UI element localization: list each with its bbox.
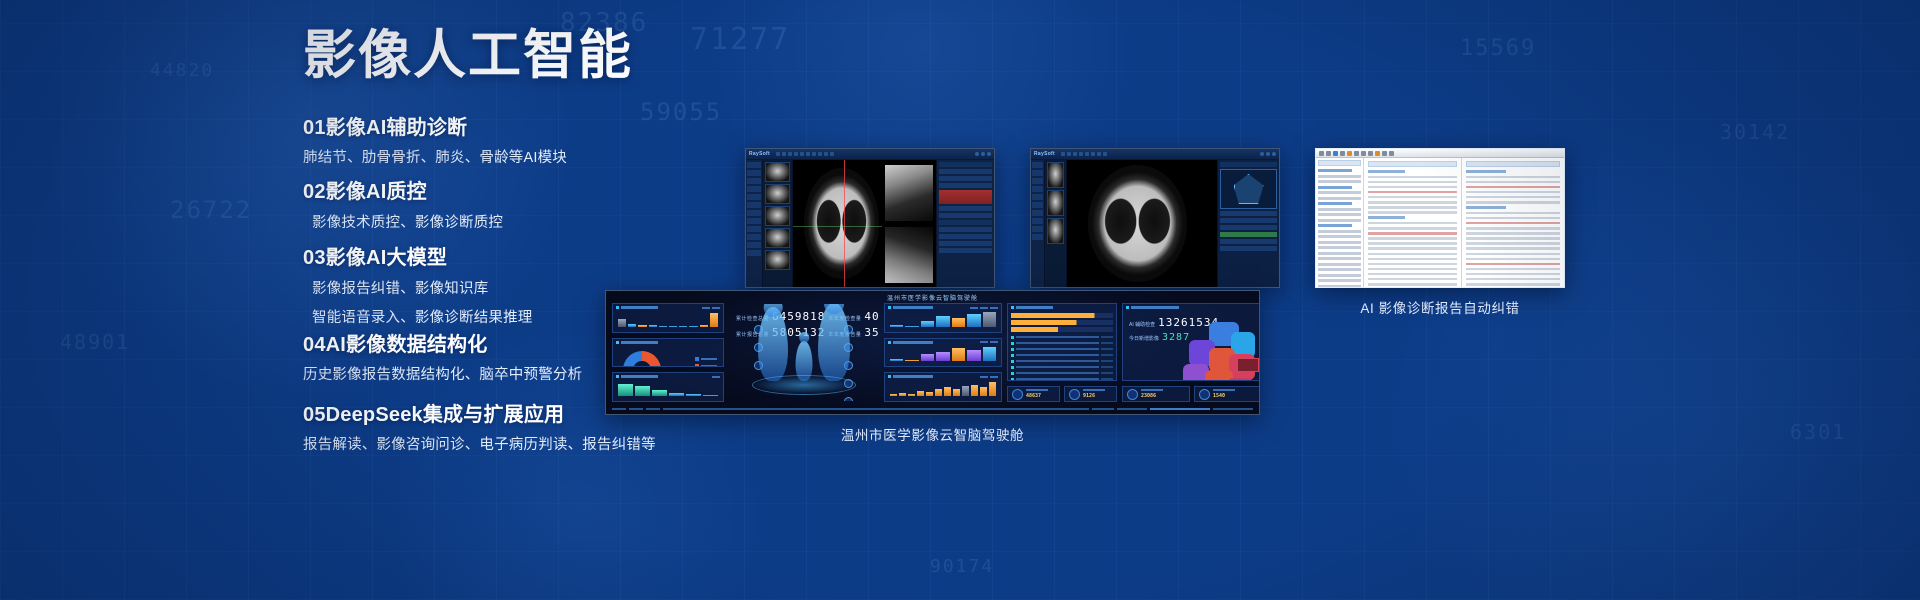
user-icon — [1199, 389, 1210, 400]
kpi-value: 358447 — [864, 326, 879, 339]
screenshot-caption-dashboard: 温州市医学影像云智脑驾驶舱 — [605, 424, 1260, 444]
qc-metric-row — [1220, 218, 1277, 223]
screenshot-dashboard[interactable]: 温州市医学影像云智脑驾驶舱 — [605, 290, 1260, 415]
banner-root: 82386 71277 59055 26722 15569 30142 4890… — [0, 0, 1920, 600]
ranking-list-card[interactable] — [1007, 303, 1117, 381]
series-thumbnail[interactable] — [765, 162, 790, 182]
feature-title: 05DeepSeek集成与扩展应用 — [303, 403, 656, 428]
doc-toolbar[interactable] — [1316, 149, 1564, 158]
panel-tab[interactable] — [939, 162, 992, 167]
screenshot-report-correction[interactable] — [1315, 148, 1565, 288]
page-title: 影像人工智能 — [303, 28, 683, 84]
feature-item-01: 01影像AI辅助诊断 肺结节、肋骨骨折、肺炎、骨龄等AI模块 — [303, 116, 567, 169]
figure-adult-left — [758, 307, 788, 381]
map-kpi-label: 今日新增影像 — [1129, 335, 1159, 342]
chart-card-bar-3[interactable] — [884, 303, 1002, 333]
ct-axial-image — [804, 168, 878, 280]
holo-base-ring — [752, 375, 856, 395]
finding-row[interactable] — [939, 176, 992, 181]
feature-subtitle: 历史影像报告数据结构化、脑卒中预警分析 — [303, 365, 582, 386]
bg-number: 90174 — [930, 556, 994, 577]
map-tooltip — [1237, 358, 1259, 372]
stat-tile[interactable]: 1540 — [1194, 386, 1259, 402]
series-thumbnail[interactable] — [765, 206, 790, 226]
stat-tile-row: 48637 9126 — [1007, 386, 1117, 402]
bg-number: 48901 — [60, 330, 130, 354]
feature-subtitle: 报告解读、影像咨询问诊、电子病历判读、报告纠错等 — [303, 435, 656, 456]
screenshot-caption-report-correction: AI 影像诊断报告自动纠错 — [1315, 297, 1565, 317]
donut-chart — [623, 351, 661, 368]
hero-kpi-panel: 累计检查总量 6459818 本年度检查量 408864 累计报告总量 5805… — [729, 303, 879, 402]
feature-item-05: 05DeepSeek集成与扩展应用 报告解读、影像咨询问诊、电子病历判读、报告纠… — [303, 403, 656, 456]
feature-title: 02影像AI质控 — [303, 180, 503, 205]
bar-chart — [890, 346, 996, 361]
ranking-row[interactable] — [1008, 376, 1116, 381]
app-titlebar: RaySoft — [746, 149, 994, 160]
findings-panel[interactable] — [936, 160, 994, 287]
qc-metric-row — [1220, 246, 1277, 251]
stat-tile[interactable]: 48637 — [1007, 386, 1060, 402]
series-thumbnail[interactable] — [765, 184, 790, 204]
feature-item-03: 03影像AI大模型 影像报告纠错、影像知识库 智能语音录入、影像诊断结果推理 — [303, 246, 533, 329]
ranking-bar — [1011, 327, 1113, 332]
bar-chart — [890, 381, 996, 396]
pane-header — [1466, 161, 1560, 167]
series-thumbnail[interactable] — [1047, 190, 1064, 216]
screenshot-lung-nodule[interactable]: RaySoft — [745, 148, 995, 288]
screenshot-artifact-qc[interactable]: RaySoft — [1030, 148, 1280, 288]
feature-title: 03影像AI大模型 — [303, 246, 533, 271]
qc-panel[interactable] — [1217, 160, 1279, 287]
doctor-icon — [1069, 389, 1080, 400]
stat-tile-row-2: 23086 1540 — [1122, 386, 1259, 402]
series-thumbnail[interactable] — [765, 250, 790, 270]
qc-metric-row-pass — [1220, 232, 1277, 237]
report-section-header — [939, 220, 992, 225]
ct-coronal-image — [885, 227, 934, 283]
figure-adult-right — [818, 303, 850, 381]
finding-row[interactable] — [939, 213, 992, 218]
tool-rail[interactable] — [746, 160, 763, 287]
bg-number: 71277 — [690, 22, 790, 57]
report-original-pane[interactable] — [1364, 158, 1462, 287]
human-body-illustration — [750, 303, 858, 395]
feature-item-04: 04AI影像数据结构化 历史影像报告数据结构化、脑卒中预警分析 — [303, 333, 582, 386]
device-icon — [1127, 389, 1138, 400]
nav-header — [1318, 160, 1361, 166]
bg-number: 44820 — [150, 60, 214, 81]
feature-subtitle: 影像技术质控、影像诊断质控 — [303, 213, 503, 234]
series-thumbnail-list[interactable] — [1045, 160, 1067, 287]
hospital-icon — [1012, 389, 1023, 400]
kpi-value: 408864 — [864, 310, 879, 323]
stat-tile[interactable]: 23086 — [1122, 386, 1190, 402]
radar-chart — [1220, 169, 1277, 209]
ranking-bar — [1011, 320, 1113, 325]
report-text-line — [939, 234, 992, 239]
bg-number: 59055 — [640, 98, 722, 126]
feature-item-02: 02影像AI质控 影像技术质控、影像诊断质控 — [303, 180, 503, 234]
qc-metric-row — [1220, 239, 1277, 244]
ranking-bar — [1011, 313, 1113, 318]
feature-title: 04AI影像数据结构化 — [303, 333, 582, 358]
bar-chart — [618, 381, 718, 396]
qc-metric-row — [1220, 211, 1277, 216]
dashboard-footer — [612, 405, 1253, 412]
ct-viewport[interactable] — [1067, 160, 1217, 287]
crosshair-vertical — [844, 160, 845, 287]
series-thumbnail[interactable] — [765, 228, 790, 248]
series-thumbnail[interactable] — [1047, 162, 1064, 188]
ct-axial-image — [1088, 165, 1187, 282]
crosshair-horizontal — [793, 226, 882, 227]
bg-number: 6301 — [1790, 420, 1846, 444]
chart-card-bar-2[interactable] — [612, 372, 724, 402]
toolbar-icons[interactable] — [776, 152, 834, 156]
qc-section-header — [1220, 162, 1277, 167]
chart-card-donut-1[interactable] — [612, 338, 724, 368]
doc-navigation-tree[interactable] — [1316, 158, 1364, 287]
ct-viewport[interactable] — [793, 160, 936, 287]
report-corrected-pane[interactable] — [1462, 158, 1564, 287]
region-map[interactable] — [1179, 322, 1257, 381]
feature-subtitle: 肺结节、肋骨骨折、肺炎、骨龄等AI模块 — [303, 148, 567, 169]
map-kpi-label: AI 辅助检查 — [1129, 321, 1155, 328]
bar-chart — [618, 311, 718, 326]
series-thumbnail[interactable] — [1047, 218, 1064, 244]
chart-card-bar-1[interactable] — [612, 303, 724, 333]
chart-card-bar-4[interactable] — [884, 338, 1002, 368]
report-text-line — [939, 227, 992, 232]
pane-header — [1368, 161, 1457, 167]
bar-chart — [890, 311, 996, 326]
app-logo: RaySoft — [749, 151, 770, 157]
toolbar-icons[interactable] — [1061, 152, 1107, 156]
bg-number: 15569 — [1460, 36, 1536, 61]
stat-tile[interactable]: 9126 — [1064, 386, 1117, 402]
report-text-line — [939, 248, 992, 253]
finding-row-highlighted[interactable] — [939, 190, 992, 204]
feature-title: 01影像AI辅助诊断 — [303, 116, 567, 141]
bg-number: 30142 — [1720, 120, 1790, 144]
map-card[interactable]: AI 辅助检查 13261534 今日新增影像 3287 — [1122, 303, 1259, 381]
finding-row[interactable] — [939, 206, 992, 211]
donut-legend — [695, 357, 717, 368]
app-titlebar: RaySoft — [1031, 149, 1279, 160]
qc-metric-row — [1220, 225, 1277, 230]
dashboard-title: 温州市医学影像云智脑驾驶舱 — [887, 293, 978, 302]
feature-subtitle-line2: 智能语音录入、影像诊断结果推理 — [303, 308, 533, 329]
ct-sagittal-image — [885, 165, 934, 221]
window-controls[interactable] — [1260, 152, 1276, 156]
tool-rail[interactable] — [1031, 160, 1045, 287]
bg-number: 26722 — [170, 196, 252, 224]
feature-subtitle: 影像报告纠错、影像知识库 — [303, 279, 533, 300]
report-text-line — [939, 241, 992, 246]
feature-list: 影像人工智能 01影像AI辅助诊断 肺结节、肋骨骨折、肺炎、骨龄等AI模块 02… — [303, 28, 683, 84]
finding-row[interactable] — [939, 169, 992, 174]
finding-row[interactable] — [939, 183, 992, 188]
window-controls[interactable] — [975, 152, 991, 156]
app-logo: RaySoft — [1034, 151, 1055, 157]
series-thumbnail-list[interactable] — [763, 160, 793, 287]
chart-card-combo-1[interactable] — [884, 372, 1002, 402]
